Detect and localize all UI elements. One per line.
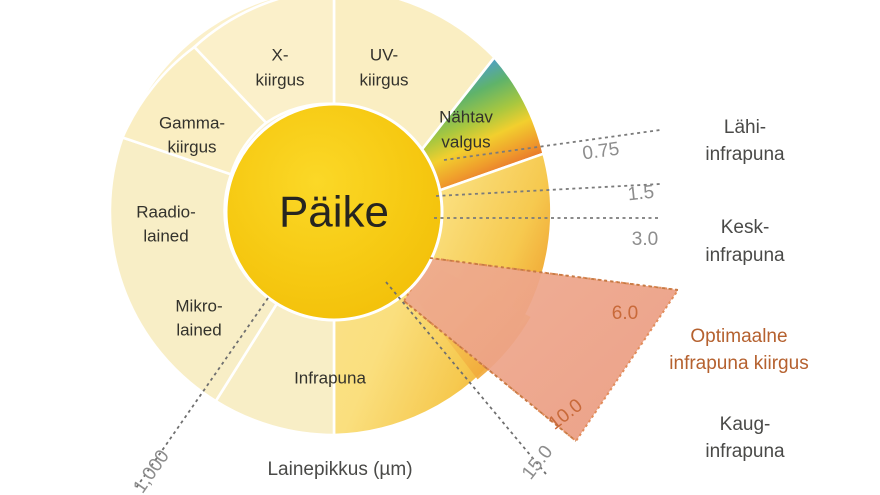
side-label-optimal-line1: Optimaalne [690,326,787,347]
center-label: Päike [279,188,389,237]
side-label-far-line1: Kaug- [720,414,771,435]
infographic-canvas: Päike 0.75 1.5 3.0 6.0 10.0 15.0 1,000 U… [0,0,880,495]
side-label-near-line2: infrapuna [705,144,785,165]
segment-label-xray-line2: kiirgus [255,70,304,89]
segment-label-radio-line1: Raadio- [136,202,196,221]
segment-label-infrared: Infrapuna [294,368,366,387]
segment-label-xray-line1: X- [272,45,289,64]
segment-label-gamma-line2: kiirgus [167,137,216,156]
segment-label-visible-line2: valgus [441,132,490,151]
segment-label-gamma-line1: Gamma- [159,113,225,132]
segment-label-micro-line1: Mikro- [175,296,222,315]
side-label-far-line2: infrapuna [705,441,785,462]
side-label-mid-line2: infrapuna [705,245,785,266]
side-label-near-line1: Lähi- [724,117,766,138]
side-label-mid-line1: Kesk- [721,217,770,238]
segment-label-uv-line2: kiirgus [359,70,408,89]
tick-label-15: 1.5 [627,182,655,206]
segment-label-uv-line1: UV- [370,45,398,64]
side-labels: Lähi- infrapuna Kesk- infrapuna Optimaal… [669,117,808,462]
segment-label-visible-line1: Nähtav [439,107,493,126]
tick-label-1000: 1,000 [129,446,173,495]
tick-label-075: 0.75 [581,139,621,165]
axis-caption: Lainepikkus (µm) [267,459,412,480]
tick-label-60: 6.0 [612,303,638,324]
tick-label-30: 3.0 [632,229,658,250]
side-label-optimal-line2: infrapuna kiirgus [669,353,808,374]
segment-label-radio-line2: lained [143,226,188,245]
spectrum-sunburst-chart: Päike 0.75 1.5 3.0 6.0 10.0 15.0 1,000 U… [0,0,880,495]
segment-label-micro-line2: lained [176,320,221,339]
